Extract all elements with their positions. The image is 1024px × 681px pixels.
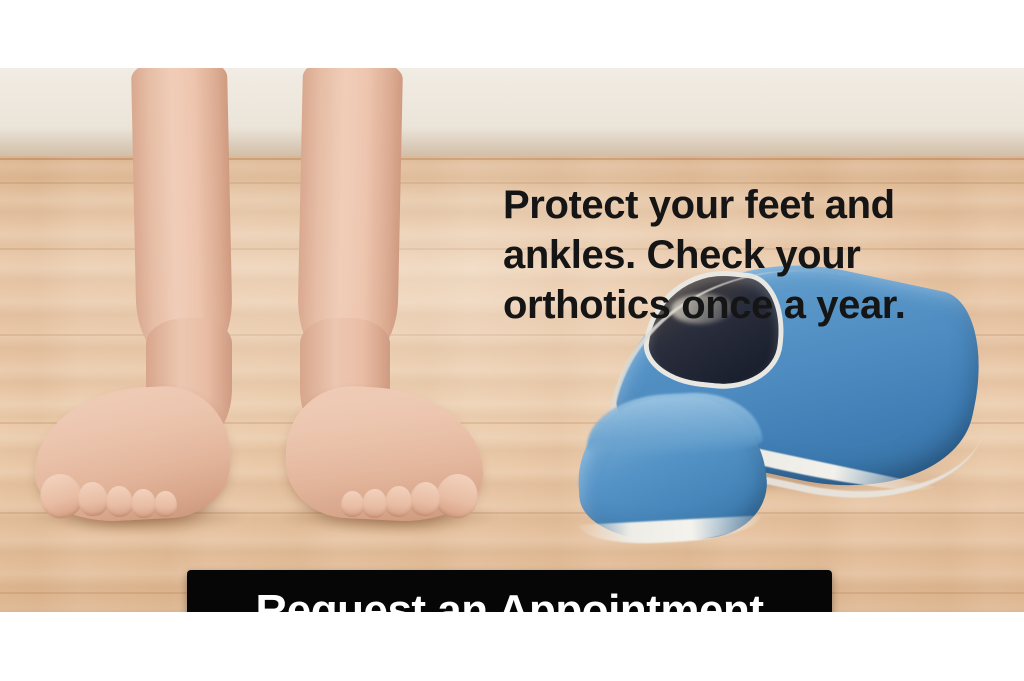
- banner-page: Protect your feet and ankles. Check your…: [0, 0, 1024, 681]
- hero-banner-photo: Protect your feet and ankles. Check your…: [0, 68, 1024, 612]
- request-appointment-button[interactable]: Request an Appointment: [187, 570, 832, 612]
- blue-orthotic-heel-cup-flat: [574, 393, 769, 545]
- banner-headline: Protect your feet and ankles. Check your…: [503, 180, 955, 330]
- blue-orthotic-insoles: [0, 68, 1024, 612]
